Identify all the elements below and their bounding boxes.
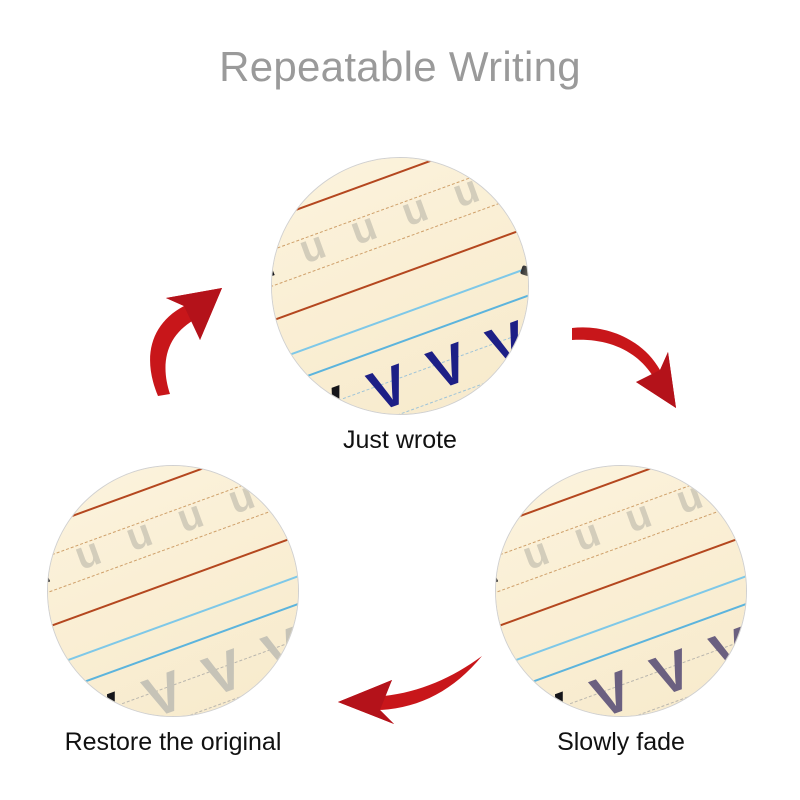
cycle-step-label-just-wrote: Just wrote xyxy=(343,426,457,455)
letter-u: u xyxy=(295,225,332,271)
letter-v: V xyxy=(481,312,528,377)
pen-icon xyxy=(521,266,528,285)
cycle-step-label-restore-the-original: Restore the original xyxy=(65,728,282,757)
letter-v: V xyxy=(704,618,746,683)
letter-v: V xyxy=(137,662,191,716)
letter-u: u xyxy=(172,494,209,540)
arrow-just-wrote-to-slowly-fade xyxy=(570,322,700,442)
letter-u: u xyxy=(671,475,708,521)
circle-photo-slowly-fade: 伞 u u u u u V V V V V V V V xyxy=(496,466,746,716)
letter-v: V xyxy=(525,683,579,716)
letter-u: u xyxy=(121,512,158,558)
letter-u: u xyxy=(496,550,503,596)
letter-u: u xyxy=(346,206,383,252)
pen-nib-icon xyxy=(521,266,528,285)
arrow-restore-to-just-wrote xyxy=(140,286,240,398)
cycle-step-just-wrote[interactable]: u u u u u V V V V V Just wrote xyxy=(272,158,528,414)
letter-u: u xyxy=(272,244,280,290)
letter-v: V xyxy=(196,640,250,705)
letter-v: V xyxy=(585,662,639,716)
page-title: Repeatable Writing xyxy=(0,44,800,90)
letter-u: u xyxy=(397,188,434,234)
letter-v: V xyxy=(421,334,475,399)
cycle-step-restore-the-original[interactable]: 伞 u u u u u V V V V V Restor xyxy=(48,466,298,716)
circle-photo-just-wrote: u u u u u V V V V V xyxy=(272,158,528,414)
letter-v: V xyxy=(77,683,131,716)
letter-u: u xyxy=(48,550,55,596)
letter-v: V xyxy=(302,377,356,414)
cycle-step-label-slowly-fade: Slowly fade xyxy=(557,728,685,757)
letter-row-u: u u u u u xyxy=(48,475,260,595)
cycle-step-slowly-fade[interactable]: 伞 u u u u u V V V V V V V V xyxy=(496,466,746,716)
letter-u: u xyxy=(569,512,606,558)
letter-u: u xyxy=(223,475,260,521)
letter-row-u: u u u u u xyxy=(496,475,708,595)
circle-photo-restore-the-original: 伞 u u u u u V V V V V xyxy=(48,466,298,716)
practice-paper: 伞 u u u u u V V V V V xyxy=(48,466,298,716)
arrow-slowly-fade-to-restore xyxy=(336,654,484,734)
letter-row-u: u u u u u xyxy=(272,169,485,289)
letter-v: V xyxy=(644,640,698,705)
letter-u: u xyxy=(70,531,107,577)
letter-v: V xyxy=(256,618,298,683)
letter-u: u xyxy=(620,494,657,540)
practice-paper: u u u u u V V V V V xyxy=(272,158,528,414)
letter-v: V xyxy=(362,356,416,414)
letter-u: u xyxy=(448,169,485,215)
letter-u: u xyxy=(518,531,555,577)
practice-paper: 伞 u u u u u V V V V V V V V xyxy=(496,466,746,716)
